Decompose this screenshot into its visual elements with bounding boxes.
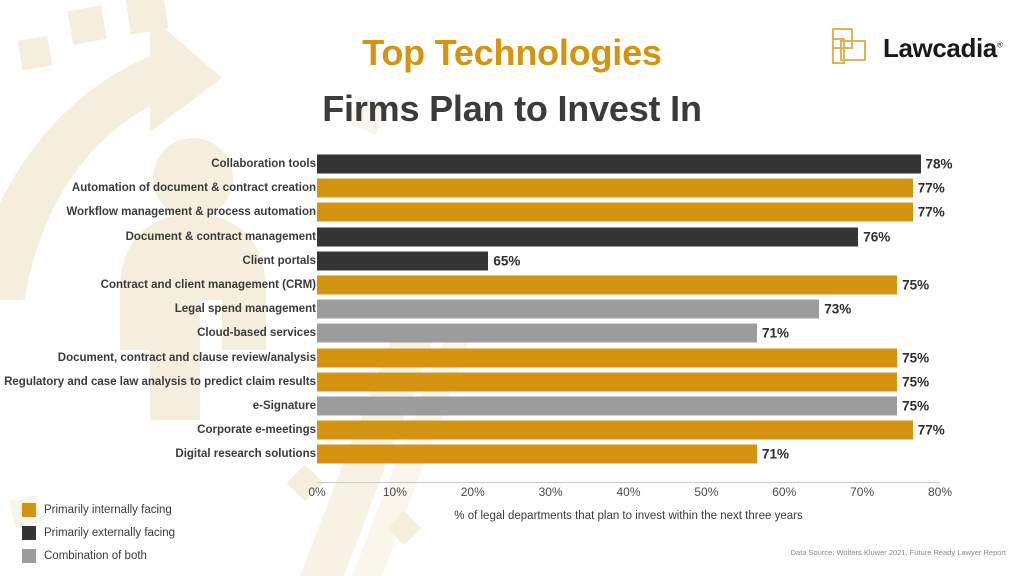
category-label: Digital research solutions — [0, 448, 316, 460]
bar-group: 73% — [317, 300, 851, 319]
category-label: Cloud-based services — [0, 327, 316, 339]
chart-row: Workflow management & process automation… — [0, 200, 1024, 224]
category-label: e-Signature — [0, 400, 316, 412]
bar — [317, 348, 897, 367]
bar-group: 75% — [317, 276, 929, 295]
bar-value-label: 77% — [918, 423, 945, 438]
bar-value-label: 75% — [902, 278, 929, 293]
bar — [317, 421, 913, 440]
legend-item-external: Primarily externally facing — [22, 523, 175, 542]
x-axis-tick-label: 50% — [694, 485, 718, 499]
category-label: Workflow management & process automation — [0, 206, 316, 218]
bar-group: 65% — [317, 251, 520, 270]
bar — [317, 445, 757, 464]
slide-canvas: Lawcadia® Top Technologies Firms Plan to… — [0, 0, 1024, 576]
chart-row: Document & contract management76% — [0, 225, 1024, 249]
bar-value-label: 71% — [762, 326, 789, 341]
chart-row: Cloud-based services71% — [0, 321, 1024, 345]
bar-value-label: 75% — [902, 350, 929, 365]
bar-group: 71% — [317, 445, 789, 464]
bar — [317, 179, 913, 198]
bar-value-label: 78% — [926, 157, 953, 172]
category-label: Document, contract and clause review/ana… — [0, 352, 316, 364]
bar-value-label: 76% — [863, 229, 890, 244]
bar-value-label: 75% — [902, 374, 929, 389]
legend-label: Combination of both — [44, 550, 147, 562]
category-label: Corporate e-meetings — [0, 424, 316, 436]
bar-group: 71% — [317, 324, 789, 343]
category-label: Collaboration tools — [0, 158, 316, 170]
chart-row: Automation of document & contract creati… — [0, 176, 1024, 200]
category-label: Regulatory and case law analysis to pred… — [0, 376, 316, 388]
bar-value-label: 77% — [918, 205, 945, 220]
chart-title-line-1: Top Technologies — [0, 32, 1024, 74]
x-axis-tick-label: 60% — [772, 485, 796, 499]
legend-label: Primarily internally facing — [44, 504, 172, 516]
bar-value-label: 65% — [493, 253, 520, 268]
legend-label: Primarily externally facing — [44, 527, 175, 539]
bar — [317, 396, 897, 415]
legend-item-both: Combination of both — [22, 546, 175, 565]
x-axis-line — [317, 482, 940, 483]
bar-group: 77% — [317, 179, 945, 198]
legend-swatch-icon — [22, 549, 36, 563]
bar-value-label: 73% — [824, 302, 851, 317]
x-axis-tick-label: 20% — [461, 485, 485, 499]
legend-swatch-icon — [22, 526, 36, 540]
chart-row: Document, contract and clause review/ana… — [0, 346, 1024, 370]
chart-row: Regulatory and case law analysis to pred… — [0, 370, 1024, 394]
x-axis-tick-label: 30% — [539, 485, 563, 499]
bar-group: 78% — [317, 155, 953, 174]
bar-group: 76% — [317, 227, 890, 246]
bar — [317, 276, 897, 295]
chart-row: Contract and client management (CRM)75% — [0, 273, 1024, 297]
chart-row: Digital research solutions71% — [0, 442, 1024, 466]
chart-row: Corporate e-meetings77% — [0, 418, 1024, 442]
category-label: Legal spend management — [0, 303, 316, 315]
chart-row: Collaboration tools78% — [0, 152, 1024, 176]
bar-value-label: 71% — [762, 447, 789, 462]
bar-value-label: 77% — [918, 181, 945, 196]
x-axis-tick-label: 0% — [308, 485, 325, 499]
bar-group: 75% — [317, 396, 929, 415]
bar — [317, 203, 913, 222]
chart-title-line-2: Firms Plan to Invest In — [0, 88, 1024, 130]
bar-group: 77% — [317, 203, 945, 222]
category-label: Contract and client management (CRM) — [0, 279, 316, 291]
chart-row: e-Signature75% — [0, 394, 1024, 418]
bar-value-label: 75% — [902, 398, 929, 413]
x-axis-tick-label: 70% — [850, 485, 874, 499]
x-axis-title: % of legal departments that plan to inve… — [317, 510, 940, 522]
bar — [317, 324, 757, 343]
legend-item-internal: Primarily internally facing — [22, 500, 175, 519]
bar — [317, 251, 488, 270]
data-source-note: Data Source: Wolters Kluwer 2021, Future… — [791, 548, 1006, 557]
category-label: Automation of document & contract creati… — [0, 182, 316, 194]
bar-group: 75% — [317, 372, 929, 391]
bar — [317, 300, 819, 319]
bar — [317, 155, 921, 174]
bar — [317, 227, 858, 246]
bar-group: 75% — [317, 348, 929, 367]
category-label: Document & contract management — [0, 231, 316, 243]
legend-swatch-icon — [22, 503, 36, 517]
bar — [317, 372, 897, 391]
bar-chart: Collaboration tools78%Automation of docu… — [0, 152, 1024, 482]
category-label: Client portals — [0, 255, 316, 267]
chart-row: Client portals65% — [0, 249, 1024, 273]
x-axis-tick-label: 80% — [928, 485, 952, 499]
bar-group: 77% — [317, 421, 945, 440]
x-axis-tick-label: 40% — [616, 485, 640, 499]
chart-legend: Primarily internally facingPrimarily ext… — [22, 500, 175, 569]
x-axis-tick-label: 10% — [383, 485, 407, 499]
chart-row: Legal spend management73% — [0, 297, 1024, 321]
